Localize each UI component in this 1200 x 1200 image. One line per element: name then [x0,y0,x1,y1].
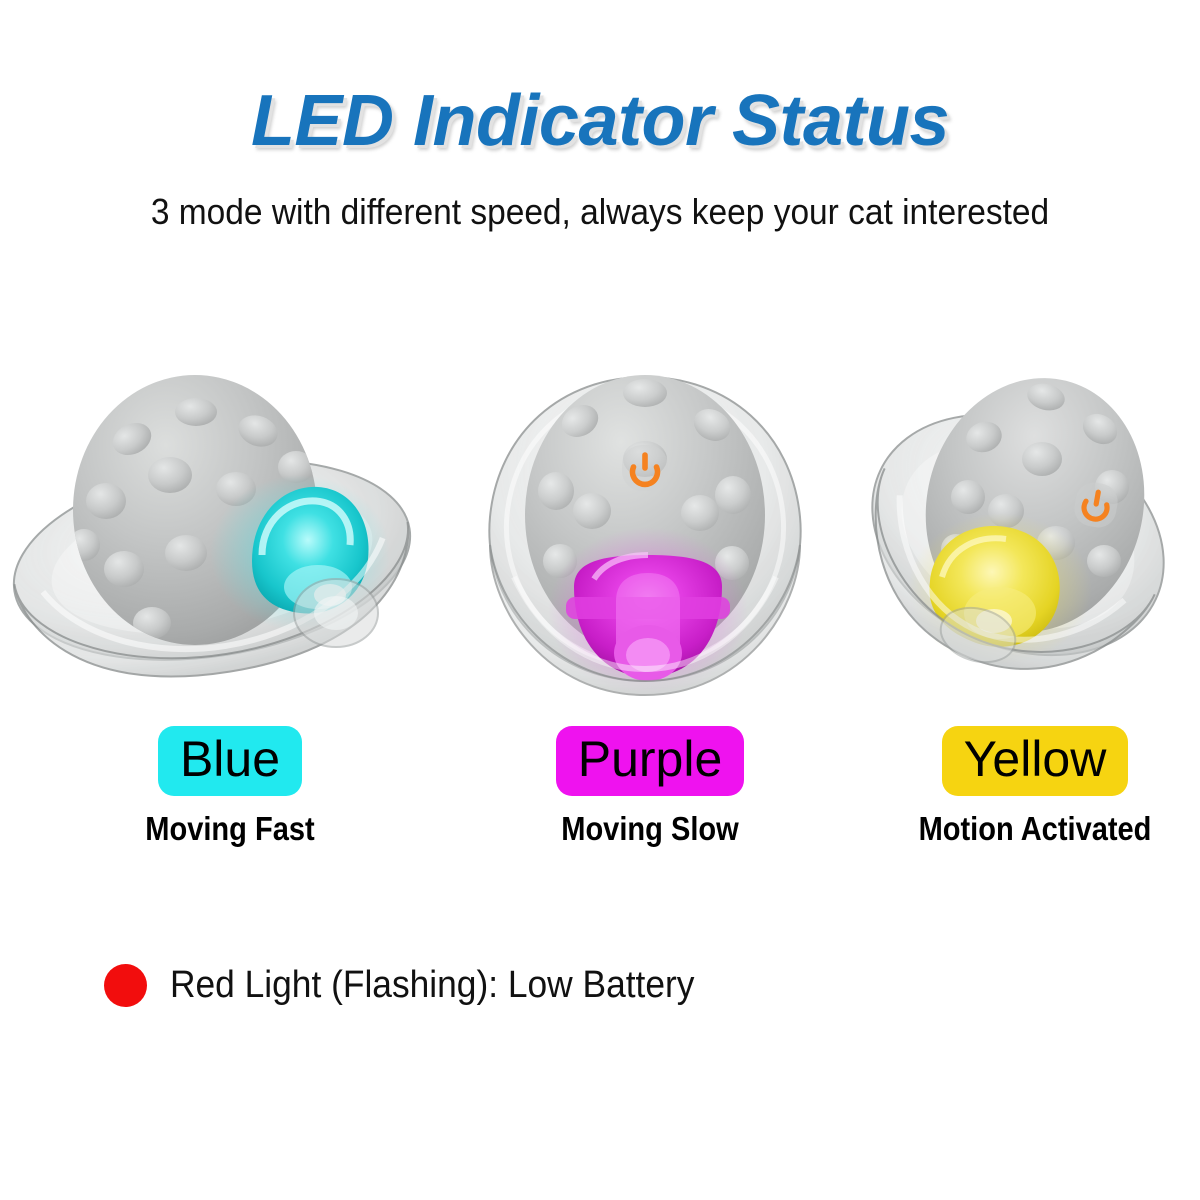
page-title: LED Indicator Status [0,80,1200,162]
product-image-yellow [860,355,1190,725]
product-image-purple [470,355,820,725]
page-subtitle: 3 mode with different speed, always keep… [42,190,1158,234]
low-battery-text: Red Light (Flashing): Low Battery [170,963,694,1007]
product-row [0,355,1200,725]
caption-yellow: Motion Activated [907,810,1162,848]
red-dot-icon [104,964,147,1007]
badge-yellow: Yellow [942,726,1129,796]
caption-purple: Moving Slow [522,810,777,848]
badge-purple: Purple [556,726,745,796]
power-button-purple[interactable] [622,445,668,491]
caption-blue: Moving Fast [107,810,353,848]
label-group-blue: Blue Moving Fast [90,726,370,848]
label-row: Blue Moving Fast Purple Moving Slow Yell… [0,726,1200,856]
label-group-yellow: Yellow Motion Activated [890,726,1180,848]
low-battery-note: Red Light (Flashing): Low Battery [104,963,734,1007]
label-group-purple: Purple Moving Slow [505,726,795,848]
badge-blue: Blue [158,726,302,796]
product-image-blue [0,355,430,725]
infographic-page: LED Indicator Status 3 mode with differe… [0,0,1200,1200]
